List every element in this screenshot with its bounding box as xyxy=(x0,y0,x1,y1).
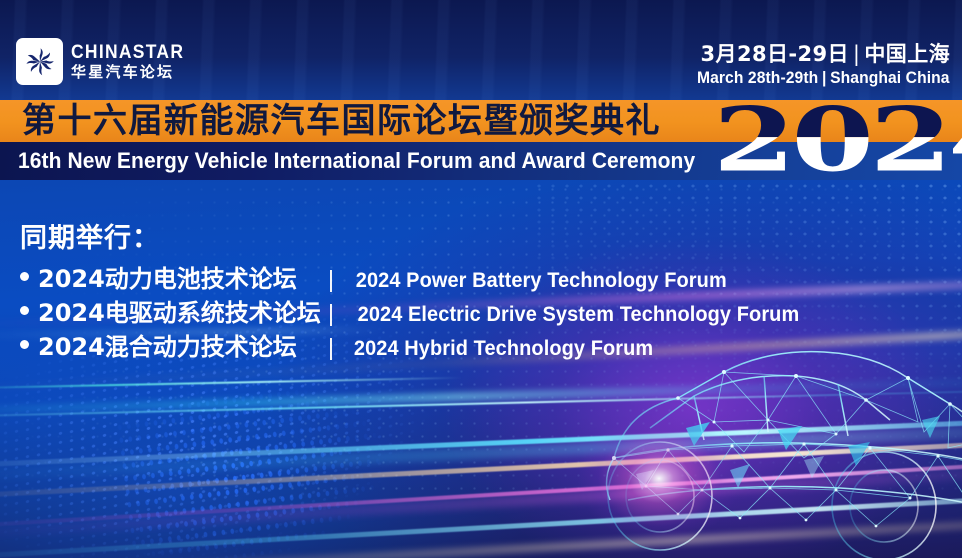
page-title-cn: 第十六届新能源汽车国际论坛暨颁奖典礼 xyxy=(22,101,661,141)
date-separator-cn: | xyxy=(849,42,864,66)
list-item: 2024电驱动系统技术论坛 | 2024 Electric Drive Syst… xyxy=(20,298,811,330)
star-emblem-glyph xyxy=(20,42,60,82)
bullet-icon xyxy=(20,306,29,315)
forum-name-cn: 2024混合动力技术论坛 xyxy=(38,332,316,362)
logo-name-cn: 华星汽车论坛 xyxy=(71,64,194,81)
event-location-en: Shanghai China xyxy=(831,68,950,87)
event-date-cn-row: 3月28日-29日|中国上海 xyxy=(675,42,950,67)
bullet-icon xyxy=(20,340,29,349)
forum-divider: | xyxy=(316,298,346,328)
concurrent-forum-list: 2024动力电池技术论坛 | 2024 Power Battery Techno… xyxy=(20,264,811,364)
list-item: 2024动力电池技术论坛 | 2024 Power Battery Techno… xyxy=(20,264,811,296)
forum-name-cn: 2024动力电池技术论坛 xyxy=(38,264,316,294)
logo[interactable]: CHINASTAR 华星汽车论坛 xyxy=(16,38,194,85)
forum-name-en: 2024 Power Battery Technology Forum xyxy=(356,266,727,296)
forum-divider: | xyxy=(316,264,346,294)
date-separator-en: | xyxy=(819,68,831,87)
concurrent-heading: 同期举行： xyxy=(20,222,811,256)
event-location-cn: 中国上海 xyxy=(864,42,950,66)
list-item: 2024混合动力技术论坛 | 2024 Hybrid Technology Fo… xyxy=(20,332,811,364)
event-date-en-row: March 28th-29th|Shanghai China xyxy=(697,67,950,89)
logo-text: CHINASTAR 华星汽车论坛 xyxy=(71,43,194,81)
page-title-en: 16th New Energy Vehicle International Fo… xyxy=(18,145,695,176)
event-date-en: March 28th-29th xyxy=(697,68,818,87)
event-date-location: 3月28日-29日|中国上海 March 28th-29th|Shanghai … xyxy=(675,42,950,89)
conference-banner: 2024 2024 第十六届新能源汽车国际论坛暨颁奖典礼 16th New En… xyxy=(0,0,962,558)
bullet-icon xyxy=(20,272,29,281)
forum-name-en: 2024 Electric Drive System Technology Fo… xyxy=(358,300,800,330)
forum-name-en: 2024 Hybrid Technology Forum xyxy=(354,334,653,364)
forum-divider: | xyxy=(316,332,346,362)
logo-name-en: CHINASTAR xyxy=(71,43,184,63)
event-date-cn: 3月28日-29日 xyxy=(701,42,849,66)
concurrent-forums-section: 同期举行： 2024动力电池技术论坛 | 2024 Power Battery … xyxy=(20,222,811,364)
forum-name-cn: 2024电驱动系统技术论坛 xyxy=(38,298,316,328)
chinastar-star-emblem-icon xyxy=(16,38,63,85)
